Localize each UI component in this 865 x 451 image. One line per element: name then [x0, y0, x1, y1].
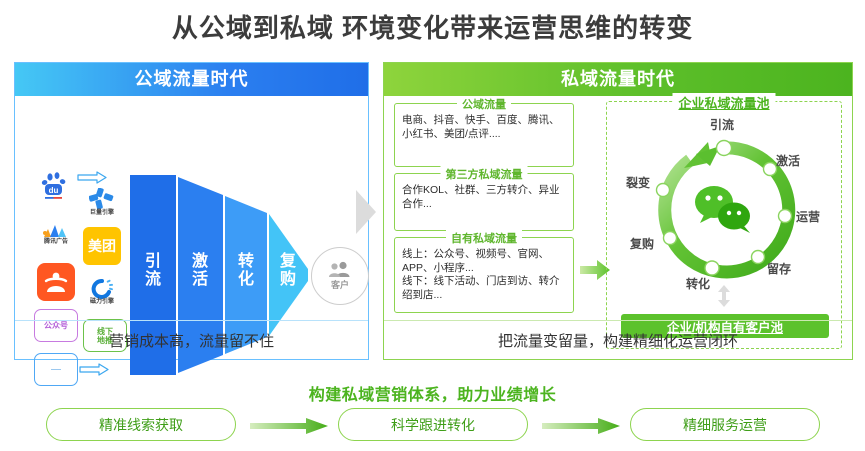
- funnel-stage-1: 引流: [142, 253, 164, 289]
- svg-text:du: du: [49, 186, 59, 195]
- baidu-icon: du: [37, 167, 75, 205]
- process-steps: 精准线索获取 科学跟进转化 精细服务运营: [0, 408, 865, 448]
- dianping-icon: [37, 263, 75, 301]
- customer-badge: 客户: [311, 247, 369, 305]
- traffic-box-own: 自有私域流量 线上：公众号、视频号、官网、APP、小程序... 线下：线下活动、…: [394, 237, 574, 313]
- double-arrow-icon: [716, 285, 732, 312]
- step-pill-3[interactable]: 精细服务运营: [630, 408, 820, 441]
- transition-arrow-icon: [356, 190, 378, 239]
- private-domain-footer: 把流量变留量，构建精细化运营闭环: [384, 320, 852, 359]
- private-domain-header: 私域流量时代: [384, 63, 852, 96]
- oceanengine-icon: 巨量引擎: [83, 183, 121, 221]
- step-pill-2[interactable]: 科学跟进转化: [338, 408, 528, 441]
- meituan-label: 美团: [88, 239, 116, 253]
- infographic-canvas: 从公域到私域 环境变化带来运营思维的转变 公域流量时代 du: [0, 0, 865, 451]
- funnel-stage-2: 激活: [189, 253, 211, 289]
- public-domain-panel: 公域流量时代 du: [14, 62, 369, 360]
- oceanengine-label: 巨量引擎: [90, 210, 114, 217]
- customer-label: 客户: [331, 278, 349, 291]
- ring-node-operation: 运营: [796, 208, 820, 225]
- private-domain-panel: 私域流量时代 公域流量 电商、抖音、快手、百度、腾讯、小红书、美团/点评....…: [383, 62, 853, 360]
- funnel-stage-3: 转化: [235, 253, 257, 289]
- private-traffic-pool: 企业私域流量池: [606, 101, 842, 349]
- traffic-box-title: 公域流量: [457, 96, 511, 112]
- step-pill-1[interactable]: 精准线索获取: [46, 408, 236, 441]
- step-arrow-icon-1: [250, 418, 328, 439]
- ring-node-drainage: 引流: [710, 116, 734, 133]
- magnetic-engine-label: 磁力引擎: [90, 299, 114, 306]
- traffic-box-title: 第三方私域流量: [441, 166, 528, 182]
- ring-node-activation: 激活: [776, 152, 800, 169]
- outline-arrow-icon-2: [79, 363, 109, 376]
- users-icon: [328, 261, 352, 277]
- traffic-box-body: 合作KOL、社群、三方转介、异业合作...: [402, 184, 566, 211]
- ring-node-repurchase: 复购: [630, 235, 654, 252]
- traffic-box-body: 线上：公众号、视频号、官网、APP、小程序... 线下：线下活动、门店到访、转介…: [402, 248, 566, 302]
- public-domain-header: 公域流量时代: [15, 63, 368, 96]
- bottom-title: 构建私域营销体系，助力业绩增长: [0, 381, 865, 405]
- traffic-box-body: 电商、抖音、快手、百度、腾讯、小红书、美团/点评....: [402, 114, 566, 141]
- meituan-icon: 美团: [83, 227, 121, 265]
- funnel-stage-4: 复购: [277, 253, 299, 289]
- ring-node-retention: 留存: [767, 260, 791, 277]
- traffic-box-title: 自有私域流量: [446, 230, 522, 246]
- ring-node-conversion: 转化: [686, 275, 710, 292]
- pool-title: 企业私域流量池: [672, 93, 775, 112]
- traffic-box-public: 公域流量 电商、抖音、快手、百度、腾讯、小红书、美团/点评....: [394, 103, 574, 167]
- public-domain-footer: 营销成本高，流量留不住: [15, 320, 368, 359]
- page-title: 从公域到私域 环境变化带来运营思维的转变: [0, 8, 865, 45]
- tencent-ads-label: 腾讯广告: [44, 239, 68, 246]
- magnetic-engine-icon: 磁力引擎: [83, 273, 121, 311]
- ring-node-fission: 裂变: [626, 174, 650, 191]
- tencent-ads-icon: 腾讯广告: [37, 215, 75, 253]
- step-arrow-icon-2: [542, 418, 620, 439]
- outline-arrow-icon-1: [77, 171, 107, 184]
- lifecycle-ring: 引流 激活 运营 留存 转化 复购 裂变: [624, 120, 824, 300]
- traffic-box-thirdparty: 第三方私域流量 合作KOL、社群、三方转介、异业合作...: [394, 173, 574, 231]
- traffic-source-boxes: 公域流量 电商、抖音、快手、百度、腾讯、小红书、美团/点评.... 第三方私域流…: [394, 103, 584, 319]
